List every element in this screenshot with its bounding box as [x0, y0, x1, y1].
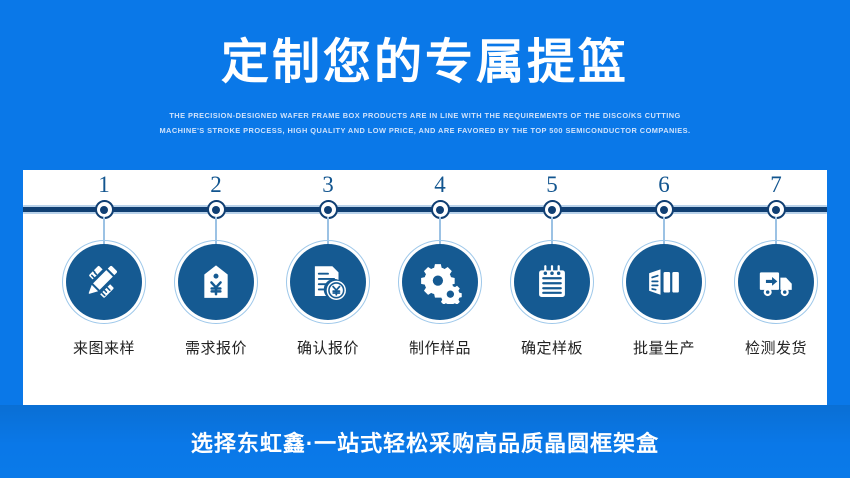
notepad-icon [532, 262, 572, 302]
step-icon-wrap-5 [510, 240, 594, 324]
process-step-1[interactable]: 来图来样 [48, 240, 160, 358]
step-icon-wrap-1 [62, 240, 146, 324]
gears-icon [418, 260, 462, 304]
step-label-1: 来图来样 [48, 337, 160, 358]
process-step-7[interactable]: 检测发货 [720, 240, 832, 358]
step-number-6: 6 [634, 172, 694, 198]
step-icon-wrap-4 [398, 240, 482, 324]
step-label-5: 确定样板 [496, 337, 608, 358]
step-disc-6 [626, 244, 702, 320]
step-label-3: 确认报价 [272, 337, 384, 358]
step-label-7: 检测发货 [720, 337, 832, 358]
footer-section: 选择东虹鑫·一站式轻松采购高品质晶圆框架盒 [0, 405, 850, 478]
invoice-yuan-icon [307, 261, 349, 303]
process-panel: 1 2 3 4 5 6 7 [23, 170, 827, 405]
step-icon-wrap-6 [622, 240, 706, 324]
process-steps: 来图来样 [23, 240, 827, 405]
step-disc-5 [514, 244, 590, 320]
process-step-3[interactable]: 确认报价 [272, 240, 384, 358]
page-subtitle: THE PRECISION-DESIGNED WAFER FRAME BOX P… [150, 108, 700, 138]
step-icon-wrap-2 [174, 240, 258, 324]
page-title: 定制您的专属提篮 [0, 34, 850, 92]
step-disc-7 [738, 244, 814, 320]
step-number-2: 2 [186, 172, 246, 198]
timeline-rail [23, 205, 827, 214]
step-number-7: 7 [746, 172, 806, 198]
step-icon-wrap-7 [734, 240, 818, 324]
process-step-2[interactable]: 需求报价 [160, 240, 272, 358]
delivery-truck-icon [755, 261, 797, 303]
header-section: 定制您的专属提篮 THE PRECISION-DESIGNED WAFER FR… [0, 0, 850, 170]
step-disc-2 [178, 244, 254, 320]
step-disc-1 [66, 244, 142, 320]
footer-tagline: 选择东虹鑫·一站式轻松采购高品质晶圆框架盒 [191, 426, 659, 458]
step-label-2: 需求报价 [160, 337, 272, 358]
step-disc-3 [290, 244, 366, 320]
stacked-boxes-icon [643, 261, 685, 303]
step-number-4: 4 [410, 172, 470, 198]
step-number-1: 1 [74, 172, 134, 198]
process-timeline: 1 2 3 4 5 6 7 [23, 170, 827, 235]
pencil-ruler-icon [83, 261, 125, 303]
process-step-5[interactable]: 确定样板 [496, 240, 608, 358]
step-label-6: 批量生产 [608, 337, 720, 358]
process-step-4[interactable]: 制作样品 [384, 240, 496, 358]
timeline-rail-core [23, 207, 827, 212]
promo-banner: 定制您的专属提篮 THE PRECISION-DESIGNED WAFER FR… [0, 0, 850, 478]
step-number-3: 3 [298, 172, 358, 198]
step-disc-4 [402, 244, 478, 320]
price-tag-yuan-icon [196, 262, 236, 302]
step-icon-wrap-3 [286, 240, 370, 324]
step-label-4: 制作样品 [384, 337, 496, 358]
step-number-5: 5 [522, 172, 582, 198]
process-step-6[interactable]: 批量生产 [608, 240, 720, 358]
